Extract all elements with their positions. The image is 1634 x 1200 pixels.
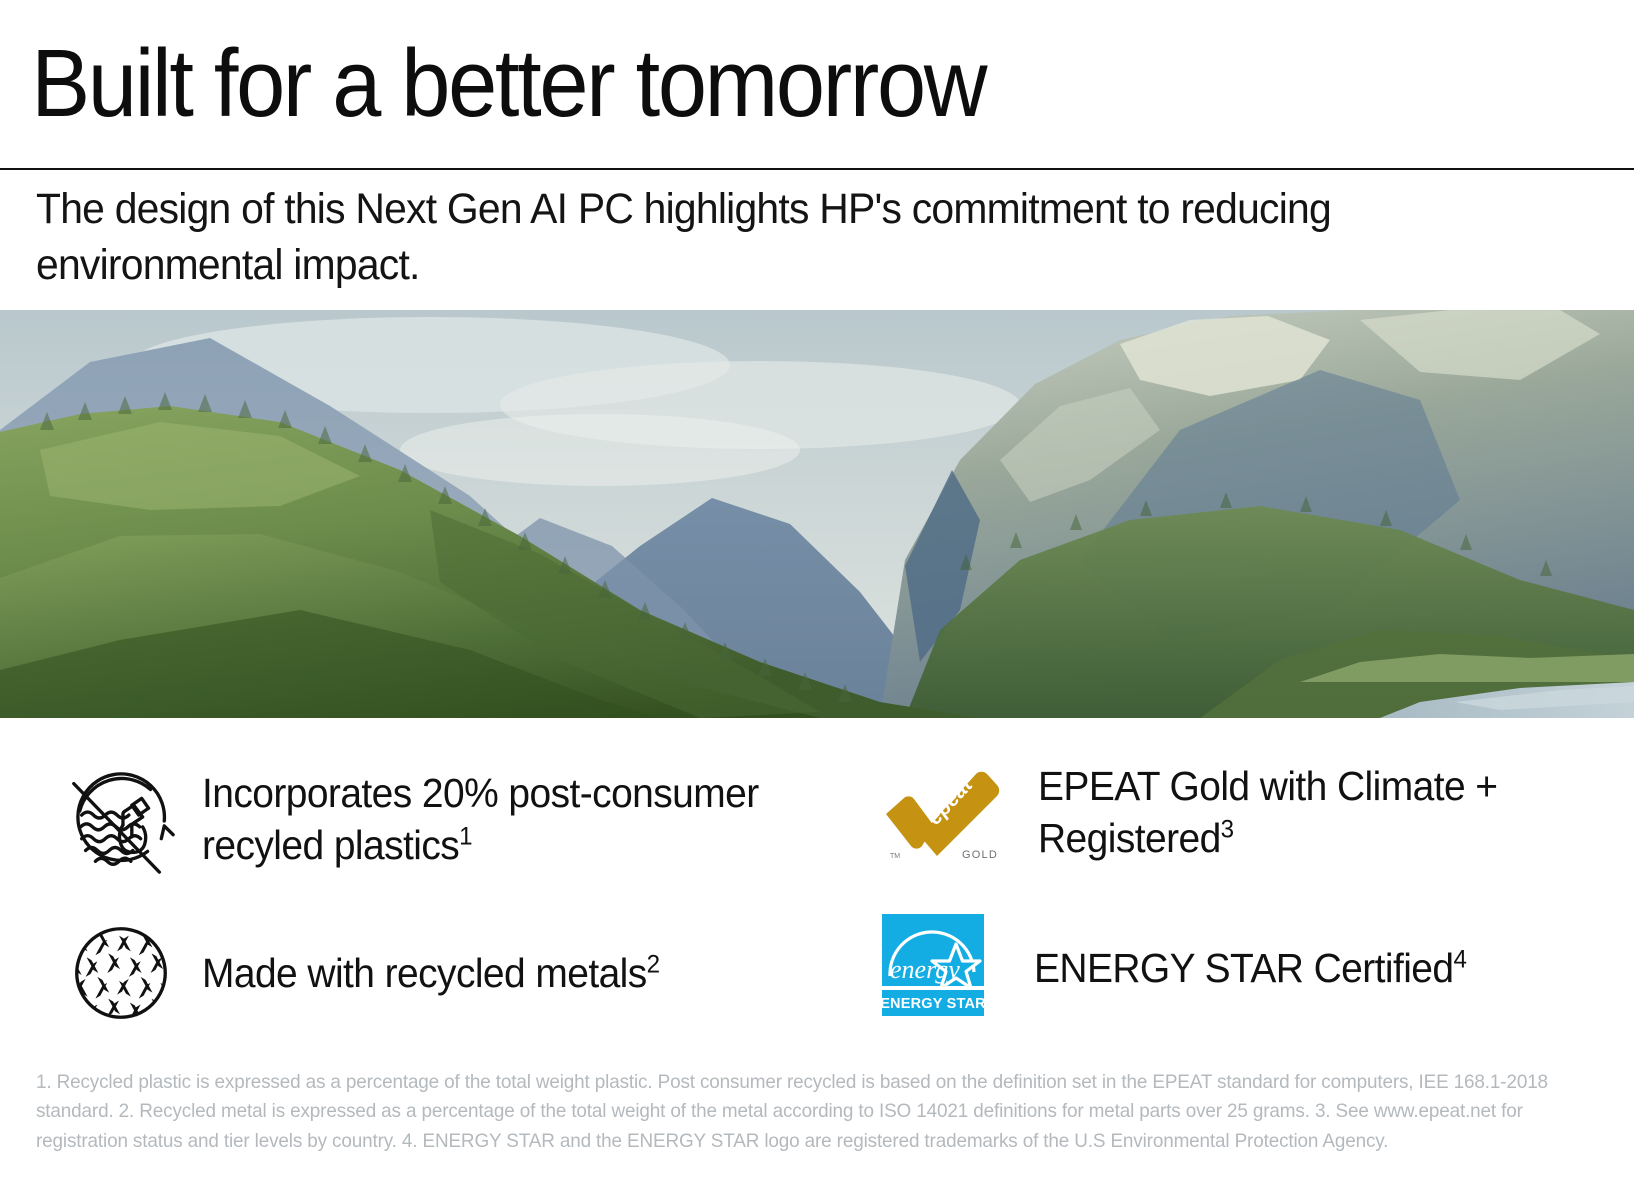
headline-band: Built for a better tomorrow xyxy=(0,0,1634,170)
feature-grid: Incorporates 20% post-consumer recyled p… xyxy=(0,742,1634,1042)
feature-label: Made with recycled metals2 xyxy=(202,947,772,999)
slide-root: Built for a better tomorrow The design o… xyxy=(0,0,1634,1200)
epeat-gold-logo: epeat TM GOLD xyxy=(880,764,1010,860)
ocean-bound-plastic-icon xyxy=(62,760,180,878)
feature-label: EPEAT Gold with Climate + Registered3 xyxy=(1038,760,1589,865)
energy-star-wordmark: ENERGY STAR xyxy=(880,996,986,1012)
feature-energy-star: energy ENERGY STAR ENERGY STAR Certified… xyxy=(880,914,1620,1022)
feature-label: Incorporates 20% post-consumer recyled p… xyxy=(202,767,772,872)
footnote-marker: 4 xyxy=(1453,945,1466,973)
page-title: Built for a better tomorrow xyxy=(0,36,985,132)
energy-script-wordmark: energy xyxy=(890,955,960,984)
footnotes: 1. Recycled plastic is expressed as a pe… xyxy=(36,1068,1549,1157)
footnote-marker: 3 xyxy=(1221,816,1234,844)
trademark-mark: TM xyxy=(890,853,900,860)
mountain-landscape-illustration xyxy=(0,310,1634,718)
feature-recycled-metals: Made with recycled metals2 xyxy=(62,914,822,1032)
footnote-marker: 2 xyxy=(647,950,660,978)
energy-star-logo: energy ENERGY STAR xyxy=(880,914,986,1022)
epeat-tier-label: GOLD xyxy=(962,849,998,860)
subheading: The design of this Next Gen AI PC highli… xyxy=(36,182,1480,294)
hero-image xyxy=(0,310,1634,718)
feature-label: ENERGY STAR Certified4 xyxy=(1034,942,1585,994)
feature-epeat-gold: epeat TM GOLD EPEAT Gold with Climate + … xyxy=(880,760,1620,865)
footnote-marker: 1 xyxy=(459,822,472,850)
feature-recycled-plastics: Incorporates 20% post-consumer recyled p… xyxy=(62,760,822,878)
recycled-metal-icon xyxy=(62,914,180,1032)
